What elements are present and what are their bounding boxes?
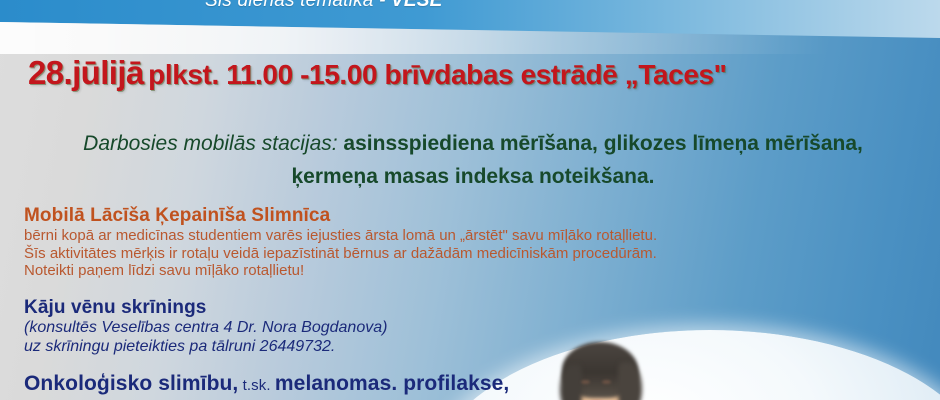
stations-line-1: Darbosies mobilās stacijas: asinsspiedie… <box>28 128 918 161</box>
section-vein-screening-line-1: (konsultēs Veselības centra 4 Dr. Nora B… <box>24 319 387 338</box>
headline-date-line: 28.jūlijā plkst. 11.00 -15.00 brīvdabas … <box>28 54 727 92</box>
stations-lead: Darbosies mobilās stacijas: <box>83 132 337 155</box>
section-mobile-hospital: Mobilā Lācīša Ķepainīša Slimnīca bērni k… <box>24 205 657 280</box>
poster-content: 28.jūlijā plkst. 11.00 -15.00 brīvdabas … <box>0 0 940 400</box>
section-vein-screening-line-2: uz skrīningu pieteikties pa tālruni 2644… <box>24 338 387 357</box>
section-mobile-hospital-line-1: bērni kopā ar medicīnas studentiem varēs… <box>24 227 657 245</box>
section-oncology-title-part-1: Onkoloģisko slimību, <box>24 372 238 395</box>
stations-list-2: ķermeņa masas indeksa noteikšana. <box>28 161 918 192</box>
stations-list-1: asinsspiediena mērīšana, glikozes līmeņa… <box>338 132 863 155</box>
section-vein-screening: Kāju vēnu skrīnings (konsultēs Veselības… <box>24 297 387 356</box>
section-mobile-hospital-line-3: Noteikti paņem līdzi savu mīļāko rotaļli… <box>24 262 657 280</box>
section-vein-screening-title: Kāju vēnu skrīnings <box>24 297 387 319</box>
section-mobile-hospital-line-2: Šīs aktivitātes mērķis ir rotaļu veidā i… <box>24 245 657 263</box>
mobile-stations-block: Darbosies mobilās stacijas: asinsspiedie… <box>28 128 918 192</box>
section-oncology-title-part-3: melanomas. profilakse, <box>275 372 509 395</box>
headline-date: 28.jūlijā <box>28 54 144 91</box>
section-oncology-title-part-2: t.sk. <box>238 377 275 394</box>
section-oncology-title: Onkoloģisko slimību, t.sk. melanomas. pr… <box>24 372 509 396</box>
headline-details: plkst. 11.00 -15.00 brīvdabas estrādē „T… <box>148 59 726 90</box>
poster-canvas: Šīs dienas tematika - VESE 28.jūlijā plk… <box>0 0 940 400</box>
section-oncology: Onkoloģisko slimību, t.sk. melanomas. pr… <box>24 372 509 396</box>
section-mobile-hospital-title: Mobilā Lācīša Ķepainīša Slimnīca <box>24 205 657 227</box>
